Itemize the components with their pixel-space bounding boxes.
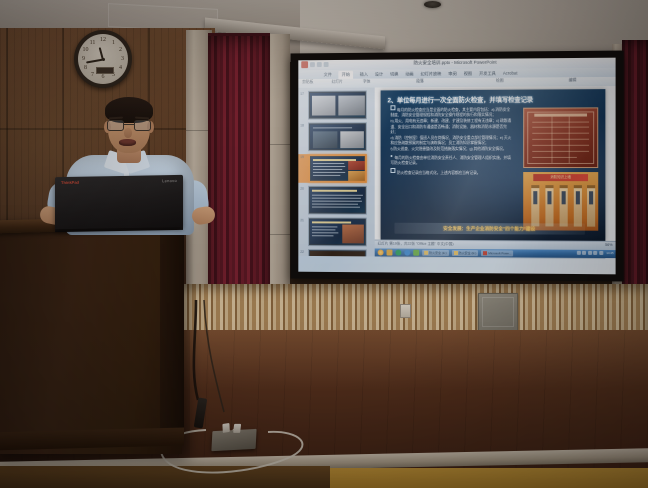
slide-body-text: 每月的防火检查应当是全面的防火检查，其主要内容包括：a) 消防安全制度、消防安全…: [390, 105, 512, 177]
clock-face: 12 1 2 3 4 5 6 7 8 9 10 11: [78, 34, 128, 84]
plug-icon: [233, 424, 241, 433]
tab-developer[interactable]: 开发工具: [479, 70, 496, 76]
tab-home[interactable]: 开始: [339, 70, 353, 78]
redo-icon[interactable]: [324, 62, 329, 67]
ceiling-right-section: [300, 0, 648, 58]
building-image-banner: 消防知识上墙: [533, 174, 588, 181]
lecture-hall-photo: 12 1 2 3 4 5 6 7 8 9 10 11: [0, 0, 648, 488]
projection-screen: 防火安全培训.pptx - Microsoft PowerPoint 文件 开始…: [298, 58, 615, 275]
floor-power-box: [211, 429, 256, 451]
slide-bullet-4: f) 防火巡查、火灾隐患整改及防范措施落实情况；g) 其他消防安全情况。: [390, 147, 506, 151]
slide-image-fire-knowledge-wall[interactable]: 消防知识上墙: [523, 172, 598, 231]
system-tray[interactable]: 14:45: [576, 251, 613, 255]
quick-access-toolbar[interactable]: [301, 61, 328, 68]
windows-taskbar[interactable]: 防火安全 (E:) 防火安全 (E:) Microsoft Powe...: [375, 248, 616, 258]
current-slide[interactable]: 2、单位每月进行一次全面防火检查，并填写检查记录 每月的防火检查应当是全面的防火…: [381, 89, 606, 241]
tray-network-icon[interactable]: [576, 251, 580, 255]
tab-review[interactable]: 审阅: [448, 70, 456, 76]
slide-bullet-6: 防火检查记录应当格式化，上述内容都应当有记录。: [397, 171, 480, 175]
light-switch[interactable]: [400, 304, 411, 318]
media-player-icon[interactable]: [395, 250, 401, 256]
slide-thumbnail[interactable]: [308, 91, 367, 120]
ribbon-group-slides[interactable]: 幻灯片: [332, 80, 343, 85]
presenter-mouth: [119, 139, 136, 146]
slide-thumbnail-pane[interactable]: 17 18 19: [298, 87, 375, 256]
thumbnail-number: 22: [300, 250, 304, 254]
ribbon-group-clipboard[interactable]: 剪贴板: [302, 80, 313, 85]
tab-view[interactable]: 视图: [464, 70, 472, 76]
ribbon-group-drawing[interactable]: 绘图: [496, 79, 504, 84]
projection-screen-frame: 防火安全培训.pptx - Microsoft PowerPoint 文件 开始…: [291, 51, 624, 282]
slide-bullet-3: d) 消防（控制室）值班人员在岗情况、消防安全重点部位管理情况；e) 灭火和应急…: [390, 136, 511, 145]
thumbnail-number: 19: [300, 155, 304, 159]
thumbnail-number: 21: [300, 218, 304, 222]
undo-icon[interactable]: [317, 62, 322, 67]
start-orb-icon[interactable]: [378, 249, 384, 255]
powerpoint-logo-icon: [301, 61, 308, 68]
tray-volume-icon[interactable]: [582, 251, 586, 255]
taskbar-clock[interactable]: 14:45: [606, 251, 613, 255]
lenovo-logo-icon: Lenovo: [162, 178, 177, 183]
ribbon-group-paragraph[interactable]: 段落: [416, 79, 424, 84]
ribbon-group-font[interactable]: 字体: [363, 80, 370, 85]
explorer-icon[interactable]: [387, 250, 393, 256]
taskbar-button-folder-1[interactable]: 防火安全 (E:): [422, 250, 449, 256]
slide-thumbnail-selected[interactable]: [308, 154, 367, 183]
tab-transitions[interactable]: 切换: [390, 71, 398, 77]
tab-design[interactable]: 设计: [375, 71, 383, 77]
thumbnail-number: 18: [300, 124, 304, 128]
browser-icon[interactable]: [404, 250, 410, 256]
laptop[interactable]: ThinkPad Lenovo: [55, 175, 183, 229]
ribbon-group-editing[interactable]: 编辑: [569, 78, 577, 83]
tab-animations[interactable]: 动画: [405, 71, 413, 77]
tray-antivirus-icon[interactable]: [593, 251, 597, 255]
presenter-nose: [124, 128, 132, 138]
save-icon[interactable]: [310, 62, 315, 67]
window-title: 防火安全培训.pptx - Microsoft PowerPoint: [414, 60, 497, 67]
clock-date-window: [96, 67, 114, 74]
slide-bullet-2: b) 用火、用电有无违章；新建、改建、扩建及装修工程有无违章；c) 疏散通道、安…: [390, 119, 510, 134]
taskbar-button-powerpoint[interactable]: Microsoft Powe...: [481, 250, 513, 256]
tray-battery-icon[interactable]: [599, 251, 603, 255]
podium: [0, 222, 182, 454]
plug-icon: [222, 423, 230, 433]
slide-bullet-5: 每月的防火检查由单位消防安全责任人、消防安全管理人组织实施，并填写防火检查记录。: [390, 156, 510, 165]
slide-footer-banner: 安全发展：生产企业消防安全"四个能力"建设: [394, 223, 585, 235]
square-bullet-icon: [390, 168, 395, 173]
status-slide-info: 幻灯片 第19张，共22张 "Office 主题" 中文(中国): [378, 242, 454, 247]
app-icon[interactable]: [413, 250, 419, 256]
tab-slideshow[interactable]: 幻灯片放映: [421, 71, 442, 77]
tray-ime-icon[interactable]: [588, 251, 592, 255]
taskbar-button-folder-2[interactable]: 防火安全 (E:): [452, 250, 479, 256]
slide-thumbnail[interactable]: [308, 249, 367, 256]
slide-thumbnail[interactable]: [308, 186, 367, 215]
thinkpad-logo-icon: ThinkPad: [61, 180, 75, 185]
tab-file[interactable]: 文件: [324, 71, 332, 77]
square-bullet-icon: [390, 105, 395, 110]
tab-insert[interactable]: 插入: [360, 71, 368, 77]
tab-acrobat[interactable]: Acrobat: [503, 71, 518, 76]
inspection-record-heading: [534, 113, 587, 116]
slide-title: 2、单位每月进行一次全面防火检查，并填写检查记录: [388, 94, 601, 104]
ceiling-light-icon: [424, 1, 441, 8]
slide-footer-text: 安全发展：生产企业消防安全"四个能力"建设: [394, 223, 585, 235]
thumbnail-number: 17: [300, 92, 304, 96]
podium-side-panel: [160, 228, 184, 444]
wall-clock: 12 1 2 3 4 5 6 7 8 9 10 11: [74, 30, 132, 88]
slide-bullet-1: 每月的防火检查应当是全面的防火检查，其主要内容包括：a) 消防安全制度、消防安全…: [390, 108, 510, 118]
dot-bullet-icon: [390, 155, 392, 157]
status-zoom-level[interactable]: 56%: [605, 243, 612, 247]
slide-thumbnail[interactable]: [308, 122, 367, 151]
slide-editing-area[interactable]: 2、单位每月进行一次全面防火检查，并填写检查记录 每月的防火检查应当是全面的防火…: [375, 86, 616, 258]
thumbnail-number: 20: [300, 187, 304, 191]
slide-image-inspection-record[interactable]: [523, 107, 598, 168]
access-panel: [478, 293, 518, 331]
slide-thumbnail[interactable]: [308, 217, 367, 246]
